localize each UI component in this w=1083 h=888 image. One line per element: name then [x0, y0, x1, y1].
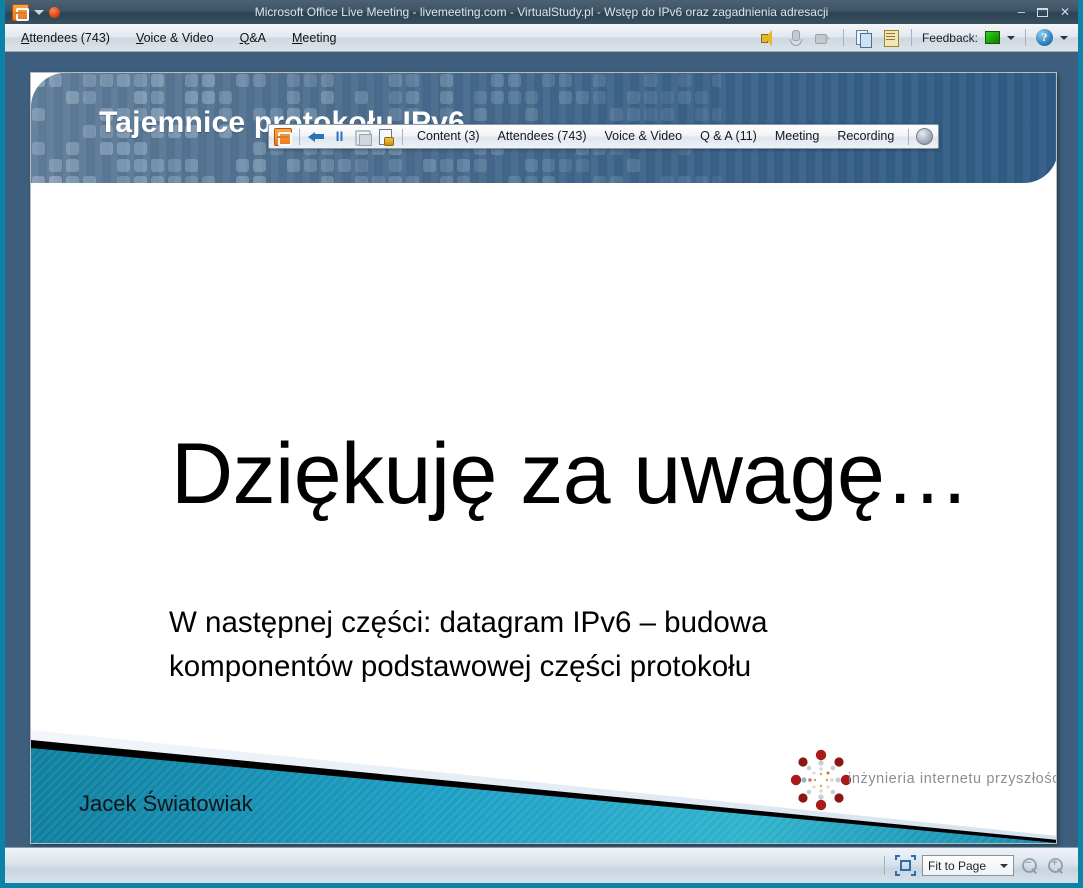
recording-indicator-icon[interactable] — [49, 7, 60, 18]
corner-mark — [911, 871, 916, 876]
slide-canvas[interactable]: Tajemnice protokołu IPv6 Dziękuję za uwa… — [30, 72, 1057, 844]
pause-icon[interactable]: II — [330, 127, 349, 146]
title-bar-controls — [5, 0, 60, 24]
pattern-dot — [134, 91, 147, 104]
pattern-dot — [593, 74, 606, 87]
pattern-dot — [134, 176, 147, 183]
pattern-dot — [185, 74, 198, 87]
pattern-dot — [525, 176, 538, 183]
status-bar: Fit to Page − + — [5, 847, 1078, 883]
pattern-dot — [712, 108, 721, 121]
pattern-dot — [287, 159, 300, 172]
pattern-dot — [542, 74, 555, 87]
pattern-dot — [559, 159, 572, 172]
menu-label: oice & Video — [144, 31, 214, 45]
chevron-down-icon — [1000, 864, 1008, 868]
pattern-dot — [389, 74, 402, 87]
microphone-icon[interactable] — [786, 28, 806, 48]
pattern-dot — [474, 108, 487, 121]
live-meeting-window: Microsoft Office Live Meeting - livemeet… — [0, 0, 1083, 888]
pattern-dot — [151, 159, 164, 172]
pattern-dot — [236, 159, 249, 172]
webcam-icon[interactable] — [813, 28, 833, 48]
pattern-dot — [423, 159, 436, 172]
pattern-dot — [525, 108, 538, 121]
pattern-dot — [83, 74, 96, 87]
pattern-dot — [117, 159, 130, 172]
pattern-dot — [695, 91, 708, 104]
window-buttons: – ✕ — [1018, 0, 1070, 24]
pattern-dot — [508, 176, 521, 183]
pattern-dot — [406, 74, 419, 87]
pattern-dot — [151, 91, 164, 104]
pattern-dot — [168, 176, 181, 183]
menu-voice-video[interactable]: Voice & Video — [134, 29, 216, 47]
pattern-dot — [474, 91, 487, 104]
pattern-dot — [678, 91, 691, 104]
zoom-in-sign: + — [1050, 859, 1059, 868]
window-title: Microsoft Office Live Meeting - livemeet… — [5, 0, 1078, 24]
pattern-dot — [542, 159, 555, 172]
menu-bar: Attendees (743) Voice & Video Q&A Meetin… — [5, 24, 1078, 52]
menu-accel: V — [136, 31, 144, 45]
menu-meeting[interactable]: Meeting — [290, 29, 338, 47]
pattern-dot — [236, 74, 249, 87]
pattern-dot — [66, 142, 79, 155]
pattern-dot — [576, 159, 589, 172]
pattern-dot — [695, 108, 708, 121]
content-toolbar: II Content (3) Attendees (743) Voice & V… — [268, 124, 939, 149]
pattern-dot — [202, 91, 215, 104]
pattern-dot — [32, 74, 45, 87]
pattern-dot — [321, 74, 334, 87]
pattern-dot — [134, 74, 147, 87]
pattern-dot — [253, 176, 266, 183]
pattern-dot — [508, 74, 521, 87]
divider — [884, 856, 885, 875]
zoom-out-icon[interactable]: − — [1020, 856, 1040, 876]
zoom-in-icon[interactable]: + — [1046, 856, 1066, 876]
pattern-dot — [66, 91, 79, 104]
pattern-dot — [151, 176, 164, 183]
pattern-dot — [695, 176, 708, 183]
pattern-dot — [559, 91, 572, 104]
pattern-dot — [134, 159, 147, 172]
pattern-dot — [508, 91, 521, 104]
pattern-dot — [321, 176, 334, 183]
zoom-level-select[interactable]: Fit to Page — [922, 855, 1014, 876]
pattern-dot — [610, 108, 623, 121]
pattern-dot — [355, 159, 368, 172]
pattern-dot — [440, 91, 453, 104]
pattern-dot — [151, 74, 164, 87]
menu-bar-tools: Feedback: ? — [759, 28, 1078, 48]
zoom-out-sign: − — [1024, 859, 1033, 868]
pattern-dot — [185, 159, 198, 172]
inner-square — [900, 860, 911, 871]
starburst-logo-icon — [790, 749, 852, 811]
pattern-dot — [576, 91, 589, 104]
divider — [843, 29, 844, 46]
toolbar-tab-voice-video[interactable]: Voice & Video — [597, 125, 689, 148]
feedback-label: Feedback: — [922, 31, 978, 45]
divider — [402, 129, 403, 145]
minimize-button[interactable]: – — [1018, 0, 1025, 24]
pattern-dot — [491, 91, 504, 104]
pattern-dot — [117, 74, 130, 87]
pattern-dot — [100, 142, 113, 155]
pattern-dot — [457, 176, 470, 183]
globe-icon[interactable] — [916, 128, 933, 145]
pattern-dot — [372, 176, 385, 183]
fit-to-page-icon[interactable] — [895, 855, 916, 876]
pattern-dot — [406, 176, 419, 183]
pattern-dot — [253, 142, 266, 155]
back-arrow-icon[interactable] — [307, 127, 326, 146]
menu-label: eeting — [302, 31, 336, 45]
menu-qa[interactable]: Q&A — [238, 29, 268, 47]
pattern-dot — [644, 108, 657, 121]
pattern-dot — [661, 91, 674, 104]
slide-main-heading: Dziękuję za uwagę… — [171, 425, 970, 524]
speaker-icon[interactable] — [759, 28, 779, 48]
pattern-dot — [491, 74, 504, 87]
pattern-dot — [525, 91, 538, 104]
pattern-dot — [32, 176, 45, 183]
zoom-level-value: Fit to Page — [928, 859, 986, 873]
pattern-dot — [83, 176, 96, 183]
title-bar: Microsoft Office Live Meeting - livemeet… — [5, 0, 1078, 24]
pattern-dot — [66, 176, 79, 183]
pattern-dot — [389, 159, 402, 172]
pattern-dot — [457, 159, 470, 172]
divider — [1025, 29, 1026, 46]
pattern-dot — [304, 159, 317, 172]
pattern-dot — [117, 176, 130, 183]
pattern-dot — [304, 74, 317, 87]
pattern-dot — [219, 91, 232, 104]
menu-label: &A — [249, 31, 266, 45]
pattern-dot — [661, 108, 674, 121]
pattern-dot — [389, 91, 402, 104]
pattern-dot — [661, 176, 674, 183]
share-document-icon[interactable] — [376, 127, 395, 146]
pattern-dot — [100, 74, 113, 87]
pattern-dot — [712, 74, 721, 87]
pattern-dot — [321, 91, 334, 104]
pattern-dot — [168, 159, 181, 172]
pattern-dot — [49, 74, 62, 87]
slide-author-name: Jacek Światowiak — [79, 791, 253, 817]
menu-item-list: Attendees (743) Voice & Video Q&A Meetin… — [5, 29, 338, 47]
pattern-dot — [134, 142, 147, 155]
pattern-dot — [712, 176, 721, 183]
toolbar-tab-recording[interactable]: Recording — [830, 125, 901, 148]
partner-logo: inżynieria internetu przyszłości — [788, 749, 1056, 811]
pattern-dot — [593, 91, 606, 104]
pattern-dot — [355, 176, 368, 183]
menu-label: ttendees (743) — [29, 31, 110, 45]
pattern-dot — [185, 91, 198, 104]
pattern-dot — [49, 159, 62, 172]
notes-icon[interactable] — [881, 28, 901, 48]
maximize-button[interactable] — [1037, 8, 1048, 17]
pattern-dot — [440, 74, 453, 87]
documents-icon[interactable] — [854, 28, 874, 48]
pattern-dot — [236, 176, 249, 183]
close-button[interactable]: ✕ — [1060, 0, 1070, 24]
divider — [911, 29, 912, 46]
pattern-dot — [83, 91, 96, 104]
pattern-dot — [627, 159, 640, 172]
pattern-dot — [49, 176, 62, 183]
pattern-dot — [627, 108, 640, 121]
toolbar-tab-attendees[interactable]: Attendees (743) — [491, 125, 594, 148]
toolbar-tab-meeting[interactable]: Meeting — [768, 125, 826, 148]
divider — [299, 129, 300, 145]
chevron-down-icon[interactable] — [34, 10, 44, 15]
toolbar-tab-qa[interactable]: Q & A (11) — [693, 125, 764, 148]
pattern-dot — [440, 176, 453, 183]
pattern-dot — [202, 176, 215, 183]
pattern-dot — [117, 142, 130, 155]
chevron-down-icon[interactable] — [1007, 36, 1015, 40]
partner-logo-text: inżynieria internetu przyszłości — [848, 771, 1057, 787]
menu-accel: Q — [240, 31, 250, 45]
live-meeting-icon[interactable] — [274, 128, 292, 146]
divider — [908, 129, 909, 145]
pattern-dot — [610, 176, 623, 183]
client-area: Tajemnice protokołu IPv6 Dziękuję za uwa… — [5, 52, 1078, 847]
pattern-dot — [83, 125, 96, 138]
pattern-dot — [202, 74, 215, 87]
pattern-dot — [542, 176, 555, 183]
pattern-dot — [338, 159, 351, 172]
menu-accel: M — [292, 31, 302, 45]
pattern-dot — [389, 176, 402, 183]
slide-subtitle: W następnej części: datagram IPv6 – budo… — [169, 601, 929, 688]
pattern-dot — [474, 159, 487, 172]
pattern-dot — [287, 74, 300, 87]
pattern-dot — [678, 176, 691, 183]
pattern-dot — [644, 91, 657, 104]
help-icon[interactable]: ? — [1036, 29, 1053, 46]
sync-content-icon[interactable] — [353, 127, 372, 146]
pattern-dot — [593, 176, 606, 183]
pattern-dot — [355, 91, 368, 104]
toolbar-tab-content[interactable]: Content (3) — [410, 125, 487, 148]
pattern-dot — [32, 142, 45, 155]
chevron-down-icon[interactable] — [1060, 36, 1068, 40]
pattern-dot — [644, 74, 657, 87]
pattern-dot — [440, 159, 453, 172]
pattern-dot — [32, 108, 45, 121]
corner-mark — [895, 871, 900, 876]
pattern-dot — [253, 74, 266, 87]
pattern-dot — [559, 74, 572, 87]
live-meeting-icon[interactable] — [12, 4, 29, 21]
pattern-dot — [321, 159, 334, 172]
corner-mark — [911, 855, 916, 860]
pattern-dot — [185, 176, 198, 183]
pattern-dot — [627, 91, 640, 104]
pattern-dot — [66, 159, 79, 172]
pattern-dot — [253, 159, 266, 172]
pattern-dot — [287, 91, 300, 104]
pattern-dot — [406, 91, 419, 104]
pattern-dot — [678, 74, 691, 87]
menu-attendees[interactable]: Attendees (743) — [19, 29, 112, 47]
feedback-color-swatch[interactable] — [985, 31, 1000, 44]
pattern-dot — [525, 159, 538, 172]
